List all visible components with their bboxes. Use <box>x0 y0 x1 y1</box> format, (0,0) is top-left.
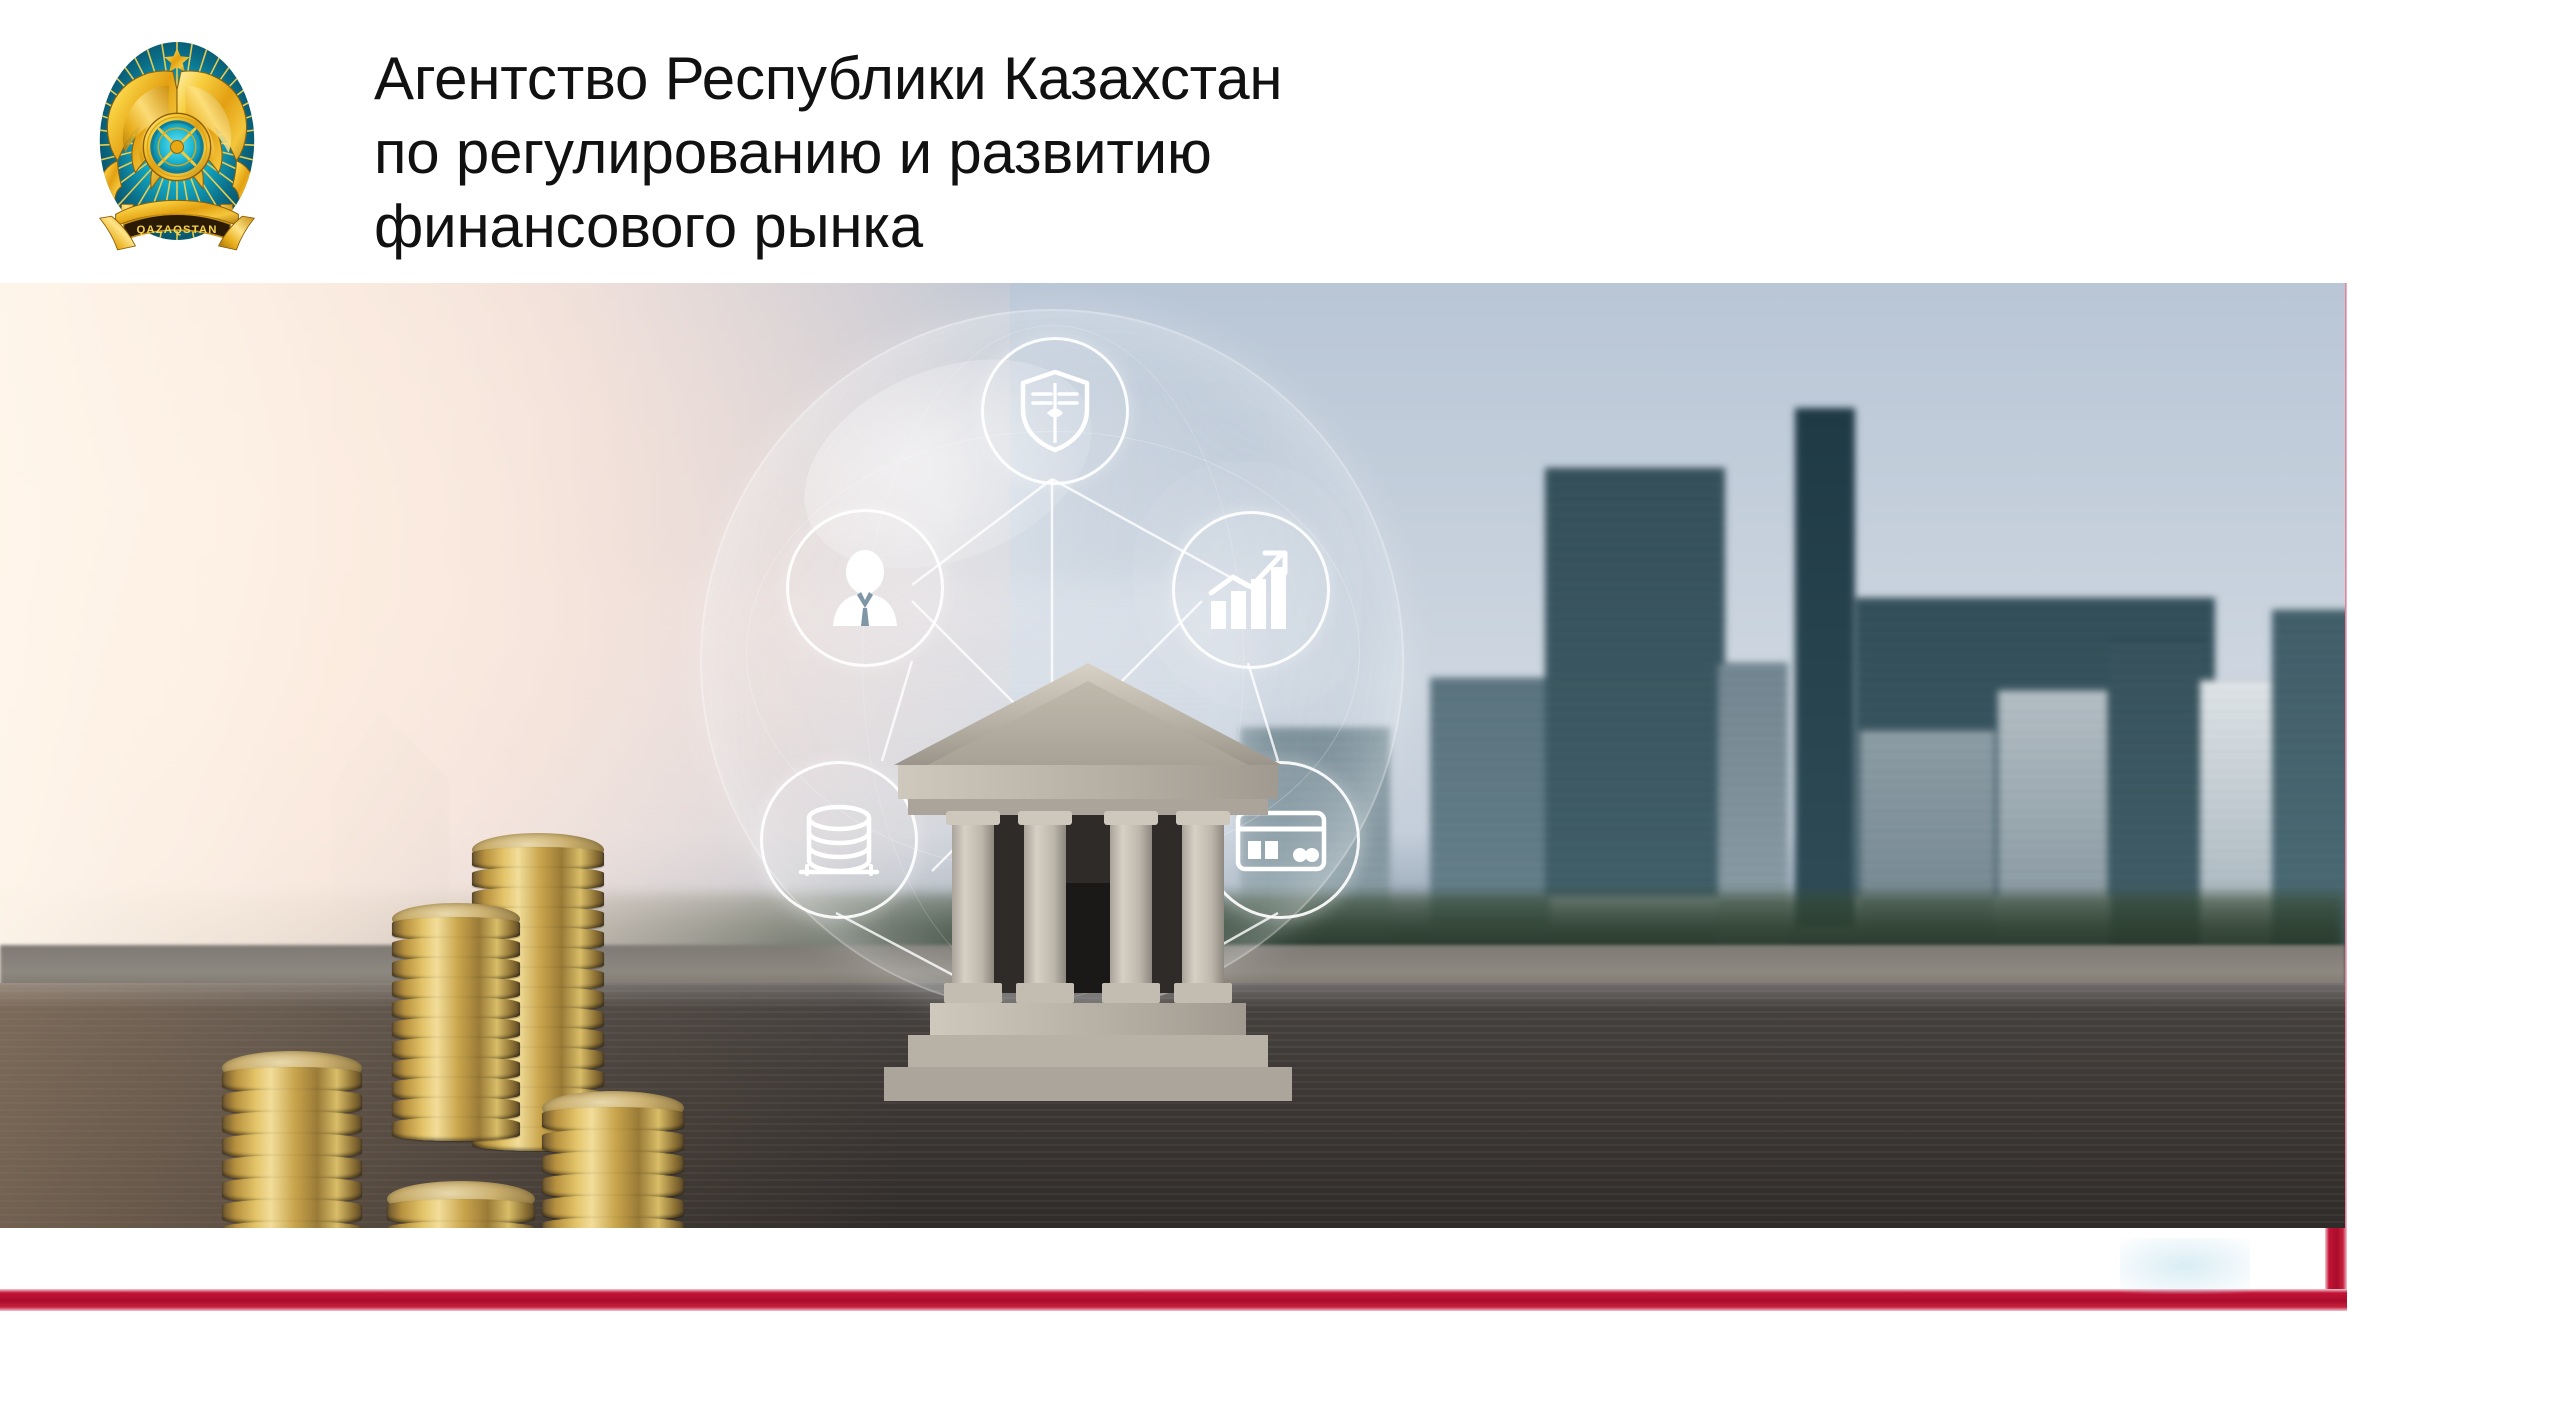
businessman-icon-glyph <box>823 546 907 630</box>
hero-photo <box>0 283 2345 1228</box>
skyline-tower <box>1545 468 1725 898</box>
coin <box>222 1221 362 1228</box>
red-frame-bottom-bar <box>0 1289 2347 1311</box>
decorative-sheen <box>2120 1238 2250 1294</box>
coin <box>392 1117 520 1141</box>
tower-windows <box>1545 468 1725 898</box>
presentation-slide: QAZAQSTAN Агентство Республики Казахстан… <box>0 0 2560 1423</box>
businessman-icon <box>786 509 944 667</box>
page-title: Агентство Республики Казахстан по регули… <box>374 42 1554 264</box>
coins-stack-icon-glyph <box>793 800 885 880</box>
bank-building <box>878 653 1298 1103</box>
coat-of-arms-icon: QAZAQSTAN <box>78 30 276 252</box>
coin <box>387 1221 535 1228</box>
coat-of-arms-glyph: QAZAQSTAN <box>78 30 276 252</box>
shield-icon <box>981 337 1129 485</box>
growth-chart-icon <box>1172 511 1330 669</box>
shanyrak-glyph <box>143 113 210 180</box>
coin <box>542 1217 684 1228</box>
tower-windows <box>1430 678 1550 928</box>
growth-chart-icon-glyph <box>1205 549 1297 631</box>
bank-building-glyph <box>878 653 1298 1103</box>
skyline-tower <box>1430 678 1550 928</box>
slide-header: QAZAQSTAN Агентство Республики Казахстан… <box>0 0 2560 283</box>
shield-icon-glyph <box>1017 369 1093 453</box>
skyline-tower <box>1795 408 1855 928</box>
emblem-inscription: QAZAQSTAN <box>137 224 218 236</box>
